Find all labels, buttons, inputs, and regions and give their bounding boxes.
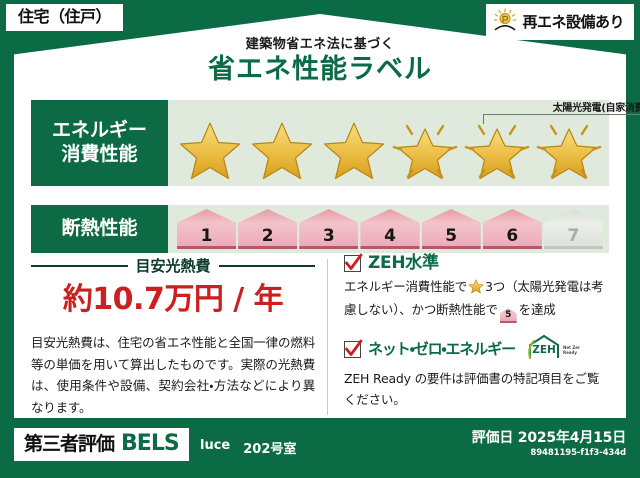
insulation-grade-house: 1 bbox=[177, 209, 236, 249]
utility-cost-heading-label: 目安光熱費 bbox=[136, 255, 211, 276]
insulation-grade-value: 4 bbox=[384, 228, 396, 245]
solar-star-icon bbox=[535, 119, 603, 183]
energy-performance-stars-area: 太陽光発電(自家消費)分 bbox=[168, 100, 609, 186]
evaluation-id: 89481195-f1f3-434d bbox=[472, 448, 626, 458]
check-icon bbox=[343, 337, 364, 359]
insulation-grade-value: 3 bbox=[323, 228, 335, 245]
insulation-grade-house-inactive: 7 bbox=[544, 209, 603, 249]
insulation-grade-house: 5 bbox=[422, 209, 481, 249]
svg-text:Ready: Ready bbox=[563, 350, 577, 355]
solar-sun-icon bbox=[492, 8, 518, 36]
star-icon bbox=[176, 119, 244, 183]
zeh-standard-body-part3: を達成 bbox=[519, 302, 556, 317]
check-icon bbox=[343, 251, 364, 273]
solar-star-icon bbox=[463, 119, 531, 183]
property-name: luce bbox=[200, 438, 230, 457]
star-rating bbox=[174, 118, 605, 184]
energy-performance-label-box: エネルギー 消費性能 bbox=[31, 100, 168, 186]
zeh-standard-block: ZEH水準 エネルギー消費性能で3つ（太陽光発電は考慮しない）、かつ断熱性能で5… bbox=[344, 255, 609, 323]
renewable-equipment-badge: 再エネ設備あり bbox=[486, 4, 634, 40]
utility-cost-value: 約10.7万円 / 年 bbox=[31, 283, 315, 316]
star-icon bbox=[320, 119, 388, 183]
zeh-column: ZEH水準 エネルギー消費性能で3つ（太陽光発電は考慮しない）、かつ断熱性能で5… bbox=[328, 255, 609, 421]
label-title-block: 建築物省エネ法に基づく 省エネ性能ラベル bbox=[0, 38, 640, 85]
utility-cost-note: 目安光熱費は、住宅の省エネ性能と全国一律の燃料等の単価を用いて算出したものです。… bbox=[31, 332, 315, 418]
insulation-grade-value: 7 bbox=[567, 228, 579, 245]
label-footer: 第三者評価 BELS luce 202号室 評価日 2025年4月15日 894… bbox=[0, 418, 640, 478]
zeh-standard-checkbox[interactable] bbox=[344, 255, 361, 272]
building-type-badge: 住宅（住戸） bbox=[6, 4, 123, 31]
net-zero-energy-heading: ネット・ゼロ・エネルギー ZEH Net Zero Ready bbox=[344, 334, 609, 364]
insulation-grade-value: 2 bbox=[262, 228, 274, 245]
building-type-badge-label: 住宅（住戸） bbox=[18, 7, 111, 26]
heading-rule-left bbox=[31, 265, 128, 267]
label-subtitle: 建築物省エネ法に基づく bbox=[0, 38, 640, 52]
energy-performance-label: 住宅（住戸） 再エネ設備あり 建築物省エネ法 bbox=[0, 0, 640, 478]
net-zero-energy-checkbox[interactable] bbox=[344, 341, 361, 358]
evaluation-info: 評価日 2025年4月15日 89481195-f1f3-434d bbox=[472, 431, 626, 458]
evaluation-date: 評価日 2025年4月15日 bbox=[472, 431, 626, 446]
insulation-grade-house: 6 bbox=[483, 209, 542, 249]
net-zero-energy-body: ZEH Ready の要件は評価書の特記項目をご覧ください。 bbox=[344, 369, 609, 410]
inline-house-value: 5 bbox=[505, 309, 511, 321]
net-zero-energy-title: ネット・ゼロ・エネルギー bbox=[368, 342, 515, 357]
solar-star-icon bbox=[391, 119, 459, 183]
zeh-standard-title: ZEH水準 bbox=[368, 255, 439, 272]
energy-label-line1: エネルギー bbox=[52, 119, 147, 143]
heading-rule-right bbox=[219, 265, 316, 267]
bels-japanese-label: 第三者評価 bbox=[24, 435, 114, 454]
insulation-grade-house: 3 bbox=[299, 209, 358, 249]
zeh-standard-body-part1: エネルギー消費性能で bbox=[344, 279, 467, 294]
insulation-performance-label-box: 断熱性能 bbox=[31, 205, 168, 253]
insulation-grade-value: 5 bbox=[445, 228, 457, 245]
insulation-grade-value: 1 bbox=[201, 228, 213, 245]
inline-insulation-house-icon: 5 bbox=[500, 308, 517, 323]
zeh-ready-logo-icon: ZEH Net Zero Ready bbox=[526, 334, 580, 364]
bels-badge: 第三者評価 BELS bbox=[14, 428, 189, 461]
utility-cost-heading: 目安光熱費 bbox=[31, 255, 315, 276]
label-title: 省エネ性能ラベル bbox=[0, 55, 640, 85]
net-zero-energy-block: ネット・ゼロ・エネルギー ZEH Net Zero Ready ZEH Read… bbox=[344, 334, 609, 410]
zeh-standard-body: エネルギー消費性能で3つ（太陽光発電は考慮しない）、かつ断熱性能で5を達成 bbox=[344, 277, 609, 323]
property-identification: luce 202号室 bbox=[200, 438, 296, 457]
performance-rows: エネルギー 消費性能 太陽光発電(自家消費)分 bbox=[31, 100, 609, 253]
svg-text:ZEH: ZEH bbox=[532, 344, 556, 356]
insulation-grade-scale: 1 2 3 4 5 6 7 bbox=[177, 209, 603, 249]
bels-logo-text: BELS bbox=[121, 433, 179, 455]
room-number: 202号室 bbox=[243, 438, 296, 457]
insulation-grade-value: 6 bbox=[506, 228, 518, 245]
zeh-standard-heading: ZEH水準 bbox=[344, 255, 609, 272]
star-icon bbox=[248, 119, 316, 183]
solar-generation-caption: 太陽光発電(自家消費)分 bbox=[483, 99, 640, 114]
renewable-equipment-label: 再エネ設備あり bbox=[522, 15, 624, 30]
insulation-grade-area: 1 2 3 4 5 6 7 bbox=[168, 205, 609, 253]
insulation-label: 断熱性能 bbox=[61, 217, 137, 241]
bottom-columns: 目安光熱費 約10.7万円 / 年 目安光熱費は、住宅の省エネ性能と全国一律の燃… bbox=[31, 255, 609, 421]
insulation-performance-row: 断熱性能 1 2 3 4 5 6 7 bbox=[31, 205, 609, 253]
insulation-grade-house: 4 bbox=[360, 209, 419, 249]
energy-label-line2: 消費性能 bbox=[61, 143, 137, 167]
utility-cost-column: 目安光熱費 約10.7万円 / 年 目安光熱費は、住宅の省エネ性能と全国一律の燃… bbox=[31, 255, 327, 421]
insulation-grade-house: 2 bbox=[238, 209, 297, 249]
energy-performance-row: エネルギー 消費性能 太陽光発電(自家消費)分 bbox=[31, 100, 609, 186]
inline-star-icon bbox=[468, 282, 484, 297]
